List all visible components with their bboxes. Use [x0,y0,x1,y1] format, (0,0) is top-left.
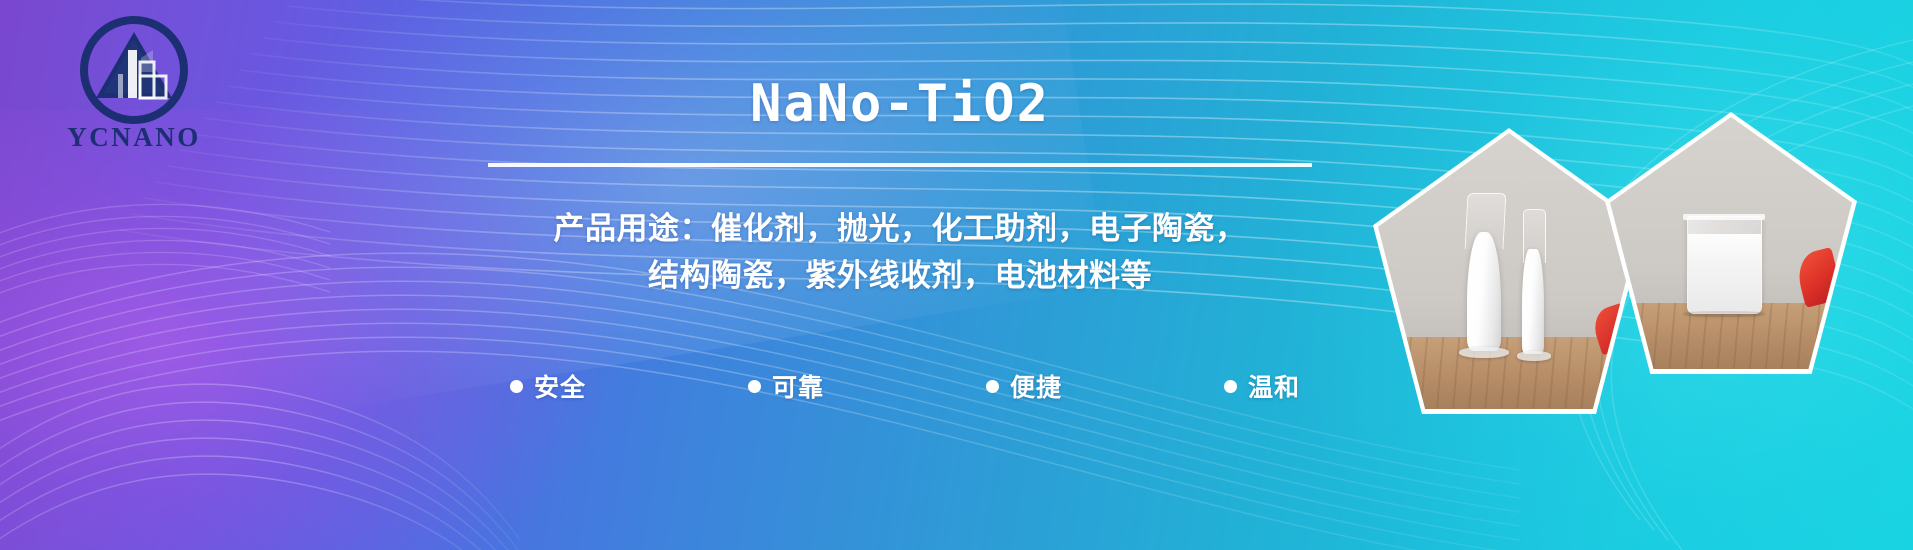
ycnano-triangle-emblem-icon [78,14,190,126]
product-photo-beaker-frame [1610,117,1852,369]
beaker-shadow [1683,311,1765,317]
beaker-glass [1687,216,1762,314]
description-line-1: 产品用途：催化剂，抛光，化工助剂，电子陶瓷， [470,206,1330,253]
feature-item-convenient: 便捷 [986,368,1062,404]
feature-item-safe: 安全 [510,368,586,404]
feature-label: 安全 [534,368,586,404]
bullet-dot-icon [1224,380,1237,393]
vase-tall-base [1459,347,1509,358]
logo-wordmark: YCNANO [44,122,224,153]
company-logo: YCNANO [44,14,224,164]
banner-content: NaNo-TiO2 产品用途：催化剂，抛光，化工助剂，电子陶瓷， 结构陶瓷，紫外… [470,0,1330,550]
vase-tall [1467,232,1501,351]
product-photo-vases-frame [1378,133,1640,409]
bullet-dot-icon [748,380,761,393]
bullet-dot-icon [510,380,523,393]
product-title: NaNo-TiO2 [470,78,1330,130]
product-banner: YCNANO NaNo-TiO2 产品用途：催化剂，抛光，化工助剂，电子陶瓷， … [0,0,1913,550]
description-line-2: 结构陶瓷，紫外线收剂，电池材料等 [470,253,1330,300]
feature-item-mild: 温和 [1224,368,1300,404]
product-description: 产品用途：催化剂，抛光，化工助剂，电子陶瓷， 结构陶瓷，紫外线收剂，电池材料等 [470,206,1330,300]
beaker-rim [1683,214,1765,220]
vase-slim [1522,249,1544,354]
feature-item-reliable: 可靠 [748,368,824,404]
product-photo-vases [1373,128,1645,414]
bullet-dot-icon [986,380,999,393]
vase-slim-base [1517,351,1551,361]
title-divider [488,163,1312,167]
product-photo-group [1353,0,1913,550]
beaker-white-slurry [1688,234,1761,313]
feature-label: 可靠 [772,368,824,404]
product-photo-beaker [1605,112,1857,374]
feature-label: 温和 [1248,368,1300,404]
feature-list: 安全 可靠 便捷 温和 [510,368,1300,404]
feature-label: 便捷 [1010,368,1062,404]
